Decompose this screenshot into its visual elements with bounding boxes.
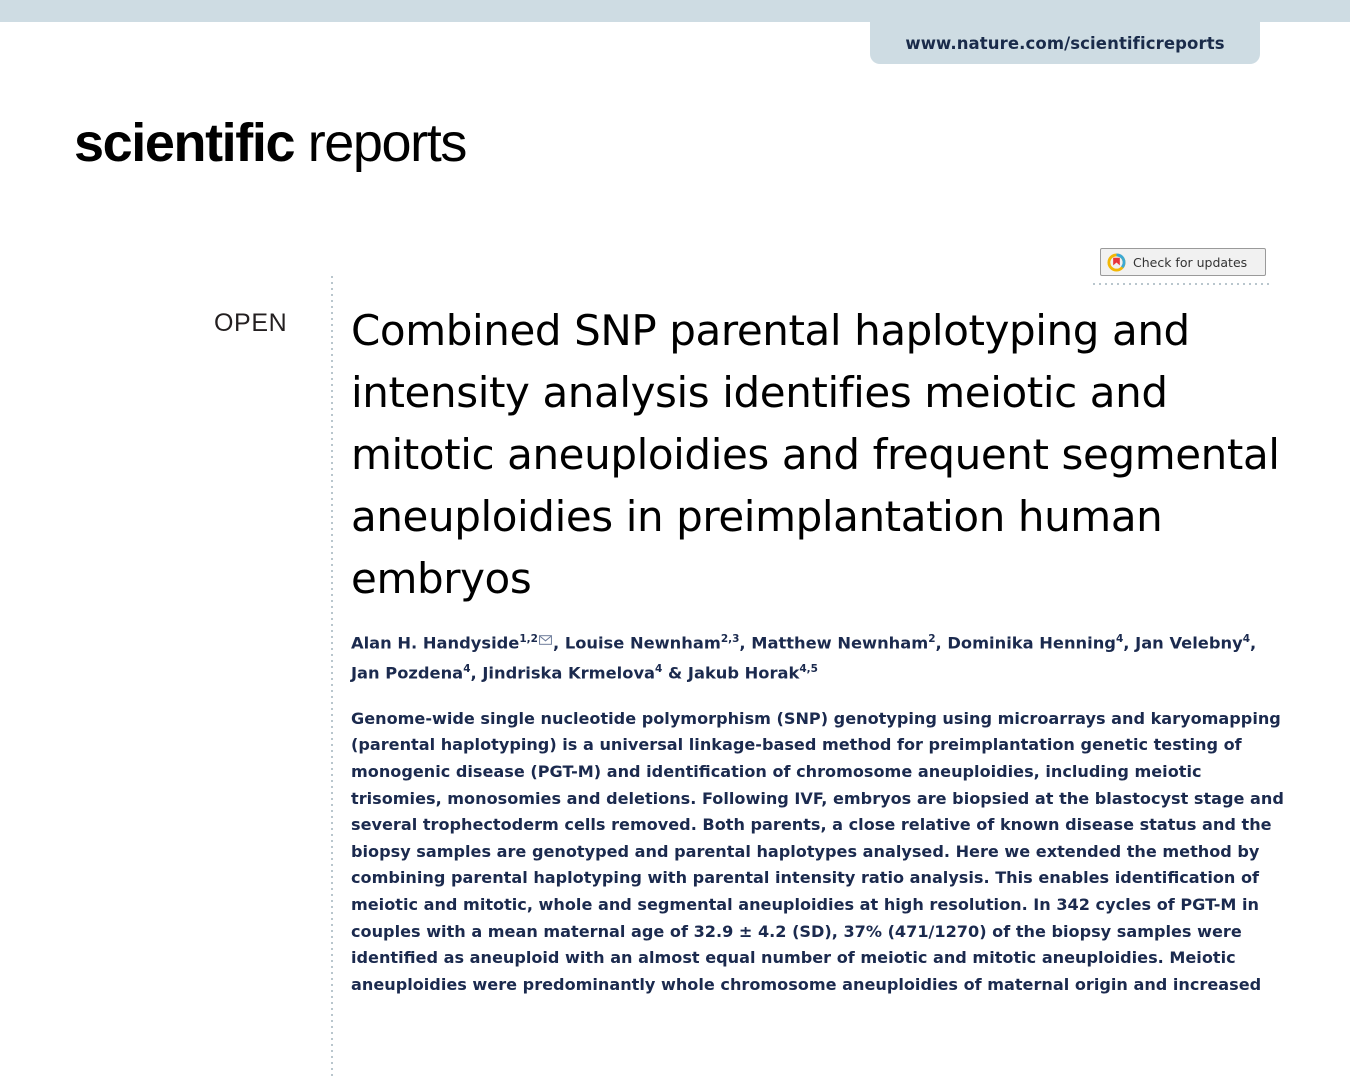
author-list: Alan H. Handyside1,2, Louise Newnham2,3,… [351, 626, 1281, 687]
check-for-updates-badge[interactable]: Check for updates [1100, 248, 1266, 276]
journal-logo-regular: reports [294, 113, 466, 173]
top-banner-bar [0, 0, 1350, 22]
journal-url-chip: www.nature.com/scientificreports [870, 22, 1260, 64]
open-access-tag: OPEN [214, 309, 287, 338]
author-affiliation-marker: 2,3 [721, 633, 740, 645]
author-affiliation-marker: 4,5 [799, 663, 818, 675]
corresponding-author-envelope-icon[interactable] [539, 627, 552, 653]
check-for-updates-label: Check for updates [1133, 255, 1247, 270]
author-name: & Jakub Horak [662, 664, 799, 683]
author-name: , Dominika Henning [936, 633, 1116, 652]
author-separator: , [1123, 633, 1129, 652]
crossmark-icon [1107, 253, 1126, 272]
journal-logo: scientific reports [74, 112, 466, 174]
author-affiliation-marker: 4 [1243, 633, 1250, 645]
author-affiliation-marker: 2 [928, 633, 935, 645]
author-name: , Matthew Newnham [739, 633, 928, 652]
author-name: , Jindriska Krmelova [471, 664, 656, 683]
page-title: Combined SNP parental haplotyping and in… [351, 300, 1281, 610]
abstract-text: Genome-wide single nucleotide polymorphi… [351, 706, 1291, 999]
author-name: Jan Velebny [1135, 633, 1243, 652]
column-dotted-divider [331, 276, 333, 1080]
author-name: Alan H. Handyside [351, 633, 519, 652]
journal-url-text: www.nature.com/scientificreports [905, 34, 1224, 53]
journal-logo-bold: scientific [74, 113, 294, 173]
author-affiliation-marker: 4 [463, 663, 470, 675]
article-header: Combined SNP parental haplotyping and in… [351, 300, 1341, 998]
author-separator: , Louise Newnham [553, 633, 721, 652]
author-affiliation-marker: 1,2 [519, 633, 538, 645]
badge-dotted-underline [1093, 283, 1273, 285]
